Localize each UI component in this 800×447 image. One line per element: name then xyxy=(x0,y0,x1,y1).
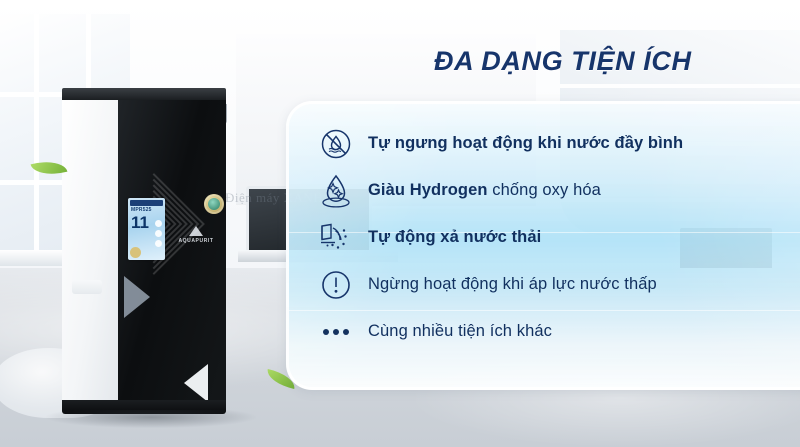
warning-exclamation-icon xyxy=(310,263,362,307)
feature-label-regular: chống oxy hóa xyxy=(488,181,601,199)
purifier-side-panel xyxy=(62,100,118,400)
feature-row: Cùng nhiều tiện ích khác xyxy=(310,308,790,355)
feature-row: Ngừng hoạt động khi áp lực nước thấp xyxy=(310,261,790,308)
purifier-shadow xyxy=(46,410,256,428)
feature-label: Tự ngưng hoạt động khi nước đầy bình xyxy=(368,134,683,153)
feature-row: Tự động xả nước thải xyxy=(310,214,790,261)
feature-label: Ngừng hoạt động khi áp lực nước thấp xyxy=(368,275,657,294)
feature-label: Giàu Hydrogen chống oxy hóa xyxy=(368,181,601,200)
feature-label: Tự động xả nước thải xyxy=(368,228,541,247)
sticker-stage-count: 11 xyxy=(131,214,149,231)
brand-logo-text: AQUAPURIT xyxy=(178,238,213,244)
feature-label: Cùng nhiều tiện ích khác xyxy=(368,322,552,341)
purifier-spec-sticker: MPR525 11 xyxy=(128,198,165,260)
feature-row: Tự ngưng hoạt động khi nước đầy bình xyxy=(310,120,790,167)
no-water-drop-icon xyxy=(310,122,362,166)
feature-label-bold: Giàu Hydrogen xyxy=(368,181,488,199)
features-list: Tự ngưng hoạt động khi nước đầy bình Già… xyxy=(310,120,790,355)
brand-logo: AQUAPURIT xyxy=(174,226,218,244)
feature-row: Giàu Hydrogen chống oxy hóa xyxy=(310,167,790,214)
ellipsis-icon xyxy=(310,310,362,354)
waste-water-discharge-icon xyxy=(310,216,362,260)
purifier-chevron-accent-gray xyxy=(124,276,150,318)
hydrogen-water-drop-icon xyxy=(310,169,362,213)
purifier-chevron-accent-white xyxy=(184,364,208,402)
brand-triangle-icon xyxy=(189,226,203,236)
water-purifier-product: MPR525 11 AQUAPURIT xyxy=(62,88,226,418)
screenshot-root: Điện máy XANH MPR525 11 xyxy=(0,0,800,447)
page-title: ĐA DẠNG TIỆN ÍCH xyxy=(434,46,692,77)
certification-badge xyxy=(204,194,224,214)
